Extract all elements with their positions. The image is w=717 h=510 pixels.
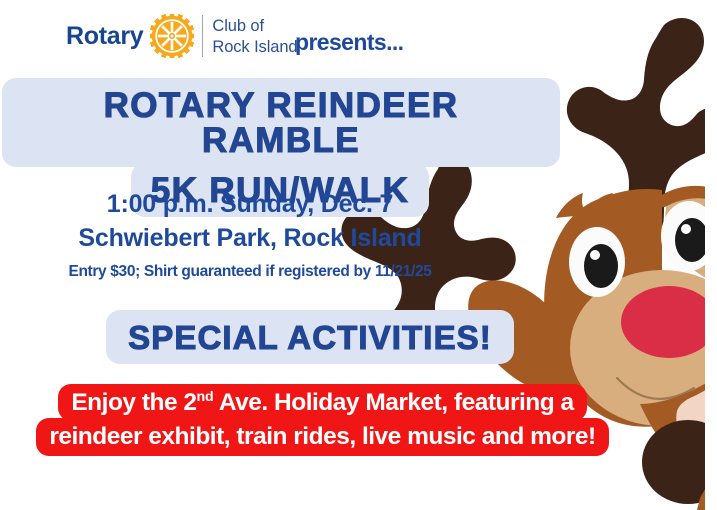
poster-canvas: Rotary <box>0 0 717 510</box>
reindeer-eye-left-highlight <box>590 250 600 260</box>
market-line-2: reindeer exhibit, train rides, live musi… <box>36 418 608 455</box>
club-name: Club of Rock Island <box>212 15 297 56</box>
market-line-1-a: Enjoy the 2 <box>71 389 196 416</box>
reindeer-leg-lower <box>697 465 717 510</box>
club-line-1: Club of <box>212 17 264 35</box>
antler-right-icon <box>567 18 717 258</box>
market-ordinal-suffix: nd <box>197 389 214 405</box>
reindeer-eye-right-highlight <box>681 224 691 234</box>
rotary-wheel-icon <box>150 14 194 58</box>
reindeer-head-tuft <box>556 193 641 221</box>
rotary-logo-lockup: Rotary <box>66 14 298 58</box>
rotary-wordmark: Rotary <box>66 24 143 49</box>
reindeer-nose <box>621 286 717 358</box>
reindeer-hoof <box>642 420 717 504</box>
event-location: Schwiebert Park, Rock Island <box>0 222 500 256</box>
reindeer-chest-light <box>676 383 717 475</box>
club-line-2: Rock Island <box>212 38 297 56</box>
reindeer-eye-left-white <box>569 227 625 297</box>
event-details: 1:00 p.m. Sunday, Dec. 7 Schwiebert Park… <box>0 188 500 284</box>
holiday-market-banner: Enjoy the 2nd Ave. Holiday Market, featu… <box>0 384 645 456</box>
reindeer-eye-right-pupil <box>675 218 709 262</box>
special-activities-label: SPECIAL ACTIVITIES! <box>106 310 514 364</box>
market-line-1-b: Ave. Holiday Market, featuring a <box>213 389 573 416</box>
reindeer-neck <box>640 376 717 494</box>
artwork-right-crop-mask <box>705 0 717 510</box>
reindeer-eye-left-pupil <box>584 244 618 288</box>
presents-text: presents... <box>295 29 403 56</box>
reindeer-ear-right-outline <box>659 186 709 207</box>
reindeer-ear-right <box>665 193 717 282</box>
reindeer-eye-right-white <box>661 201 717 271</box>
headline-line-1: ROTARY REINDEER RAMBLE <box>2 78 560 167</box>
logo-divider <box>202 15 203 57</box>
market-line-1: Enjoy the 2nd Ave. Holiday Market, featu… <box>58 384 586 421</box>
event-fine-print: Entry $30; Shirt guaranteed if registere… <box>0 260 500 285</box>
event-time: 1:00 p.m. Sunday, Dec. 7 <box>0 188 500 222</box>
special-activities-banner: SPECIAL ACTIVITIES! <box>0 310 620 364</box>
